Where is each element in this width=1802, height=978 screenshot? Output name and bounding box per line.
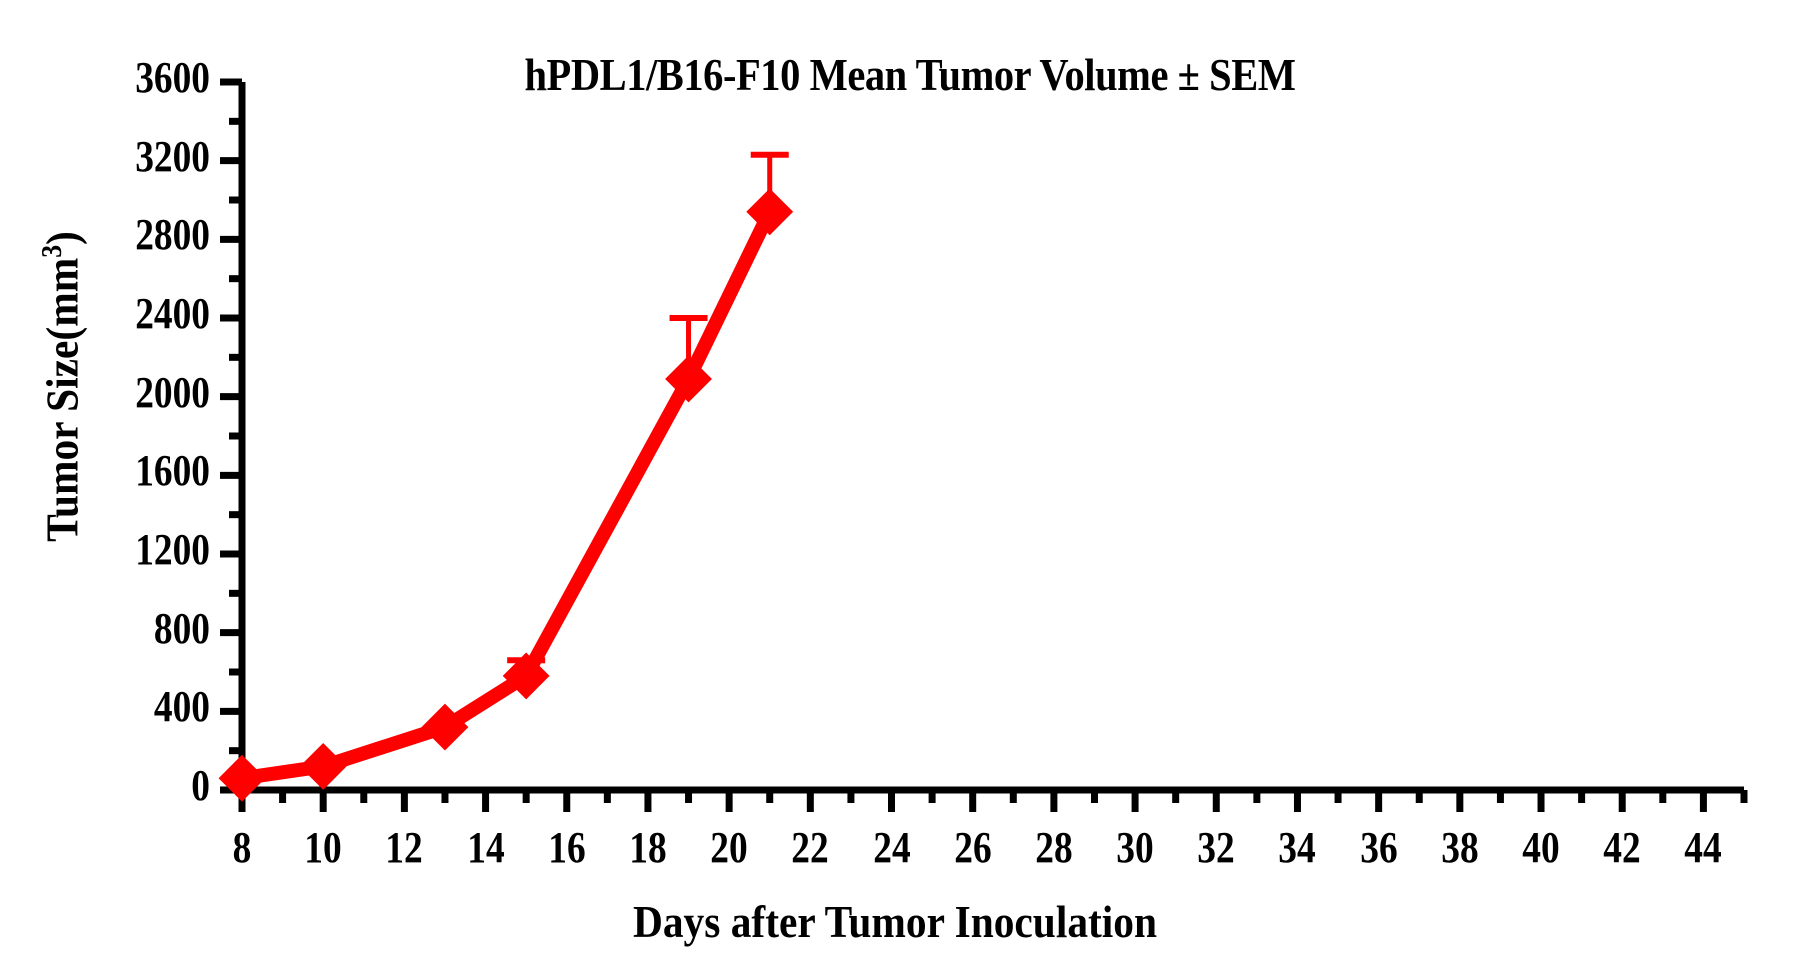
y-tick-label: 2400 [135, 288, 210, 339]
tick-layer [220, 82, 1744, 812]
y-tick-label: 2000 [135, 367, 210, 418]
y-tick-label: 800 [154, 603, 210, 654]
series-layer [220, 155, 792, 800]
y-tick-label: 1600 [135, 445, 210, 496]
y-tick-label: 0 [191, 760, 210, 811]
y-tick-label: 1200 [135, 524, 210, 575]
y-tick-label: 3200 [135, 131, 210, 182]
axis-layer [242, 82, 1744, 790]
series-line [242, 212, 770, 778]
x-tick-label: 44 [1652, 822, 1754, 873]
chart-figure: hPDL1/B16-F10 Mean Tumor Volume ± SEM Tu… [0, 0, 1802, 978]
y-tick-label: 3600 [135, 52, 210, 103]
y-tick-label: 400 [154, 681, 210, 732]
y-tick-label: 2800 [135, 209, 210, 260]
data-point-marker [220, 756, 264, 800]
data-point-marker [748, 190, 792, 234]
data-point-marker [301, 744, 345, 788]
